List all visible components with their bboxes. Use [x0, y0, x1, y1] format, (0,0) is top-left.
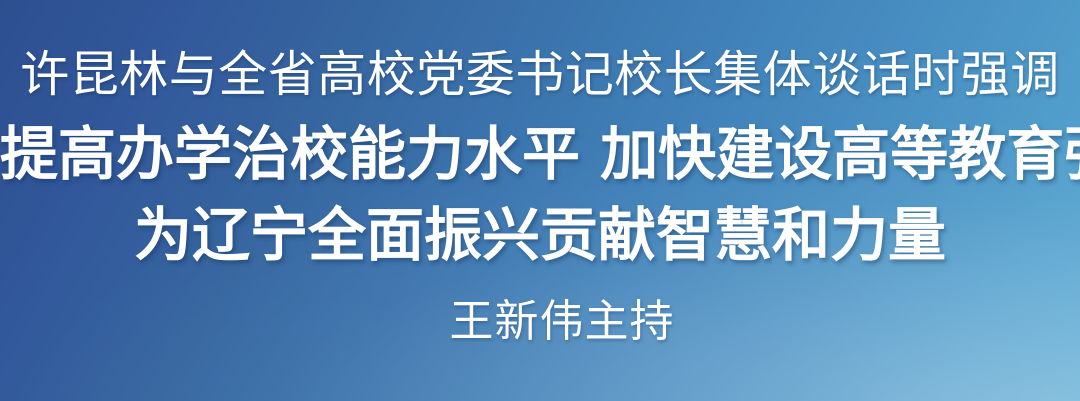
news-banner: 许昆林与全省高校党委书记校长集体谈话时强调 提高办学治校能力水平 加快建设高等教… [0, 0, 1080, 401]
main-headline-line-1: 提高办学治校能力水平 加快建设高等教育强省 [0, 122, 1080, 186]
byline-text: 王新伟主持 [0, 296, 1080, 348]
kicker-headline: 许昆林与全省高校党委书记校长集体谈话时强调 [0, 46, 1080, 104]
banner-content: 许昆林与全省高校党委书记校长集体谈话时强调 提高办学治校能力水平 加快建设高等教… [0, 0, 1080, 401]
main-headline-line-2: 为辽宁全面振兴贡献智慧和力量 [0, 203, 1080, 267]
